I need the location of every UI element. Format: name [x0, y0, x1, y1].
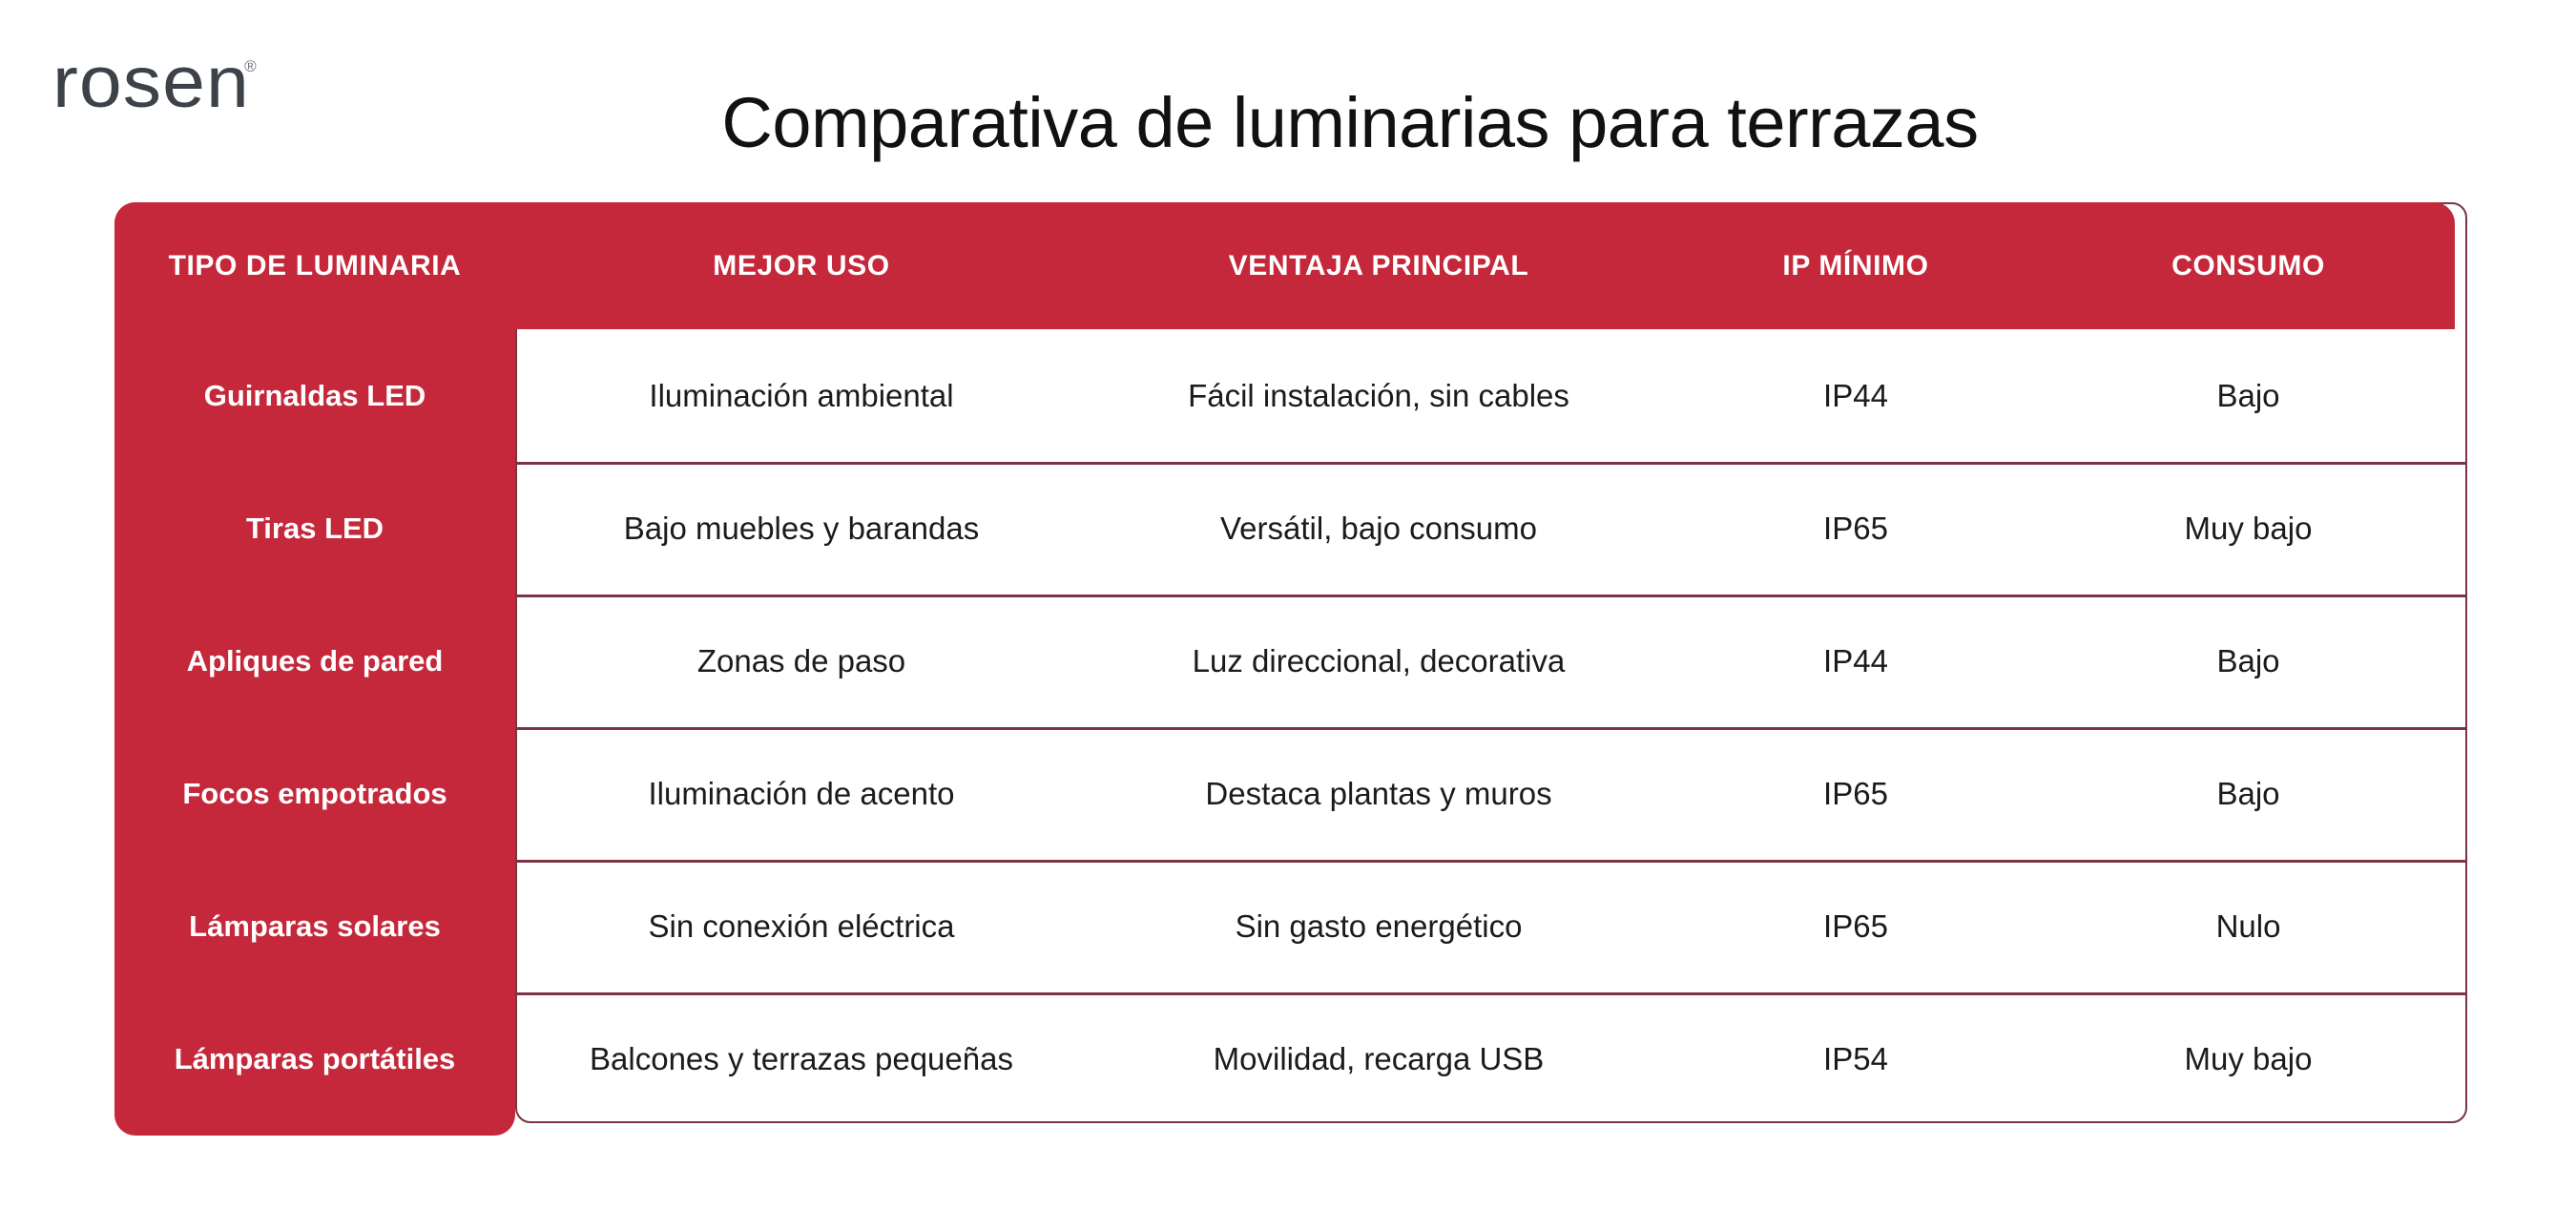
cell-tipo: Guirnaldas LED [114, 379, 515, 413]
cell-consumo: Nulo [2042, 908, 2455, 945]
cell-tipo: Apliques de pared [114, 644, 515, 678]
cell-ip: IP65 [1670, 776, 2042, 812]
cell-ventaja: Fácil instalación, sin cables [1088, 378, 1670, 414]
column-header-ip-minimo: IP MÍNIMO [1670, 250, 2042, 282]
cell-mejor-uso: Balcones y terrazas pequeñas [515, 1041, 1088, 1077]
cell-tipo: Lámparas solares [114, 909, 515, 944]
cell-tipo: Lámparas portátiles [114, 1042, 515, 1076]
cell-consumo: Bajo [2042, 378, 2455, 414]
cell-tipo: Tiras LED [114, 511, 515, 546]
column-header-mejor-uso: MEJOR USO [515, 250, 1088, 282]
table-row: Focos empotrados Iluminación de acento D… [114, 727, 2467, 860]
cell-consumo: Muy bajo [2042, 511, 2455, 547]
cell-ventaja: Versátil, bajo consumo [1088, 511, 1670, 547]
cell-ip: IP65 [1670, 908, 2042, 945]
cell-tipo: Focos empotrados [114, 777, 515, 811]
column-header-tipo-de-luminaria: TIPO DE LUMINARIA [114, 250, 515, 282]
cell-ip: IP65 [1670, 511, 2042, 547]
table-header-row: TIPO DE LUMINARIA MEJOR USO VENTAJA PRIN… [114, 202, 2455, 329]
cell-mejor-uso: Zonas de paso [515, 643, 1088, 679]
cell-consumo: Bajo [2042, 643, 2455, 679]
cell-ventaja: Luz direccional, decorativa [1088, 643, 1670, 679]
cell-ventaja: Sin gasto energético [1088, 908, 1670, 945]
table-row: Lámparas solares Sin conexión eléctrica … [114, 860, 2467, 992]
cell-mejor-uso: Bajo muebles y barandas [515, 511, 1088, 547]
cell-ip: IP44 [1670, 378, 2042, 414]
cell-ventaja: Destaca plantas y muros [1088, 776, 1670, 812]
table-row: Guirnaldas LED Iluminación ambiental Fác… [114, 329, 2467, 462]
page-title: Comparativa de luminarias para terrazas [0, 82, 2576, 163]
column-header-consumo: CONSUMO [2042, 250, 2455, 282]
cell-ip: IP54 [1670, 1041, 2042, 1077]
cell-consumo: Bajo [2042, 776, 2455, 812]
cell-ventaja: Movilidad, recarga USB [1088, 1041, 1670, 1077]
cell-ip: IP44 [1670, 643, 2042, 679]
column-header-ventaja-principal: VENTAJA PRINCIPAL [1088, 250, 1670, 282]
cell-mejor-uso: Iluminación de acento [515, 776, 1088, 812]
table-row: Apliques de pared Zonas de paso Luz dire… [114, 595, 2467, 727]
comparison-table: TIPO DE LUMINARIA MEJOR USO VENTAJA PRIN… [114, 202, 2467, 1123]
cell-consumo: Muy bajo [2042, 1041, 2455, 1077]
table-row: Lámparas portátiles Balcones y terrazas … [114, 992, 2467, 1125]
table-rows: Guirnaldas LED Iluminación ambiental Fác… [114, 329, 2467, 1125]
cell-mejor-uso: Iluminación ambiental [515, 378, 1088, 414]
table-row: Tiras LED Bajo muebles y barandas Versát… [114, 462, 2467, 595]
cell-mejor-uso: Sin conexión eléctrica [515, 908, 1088, 945]
